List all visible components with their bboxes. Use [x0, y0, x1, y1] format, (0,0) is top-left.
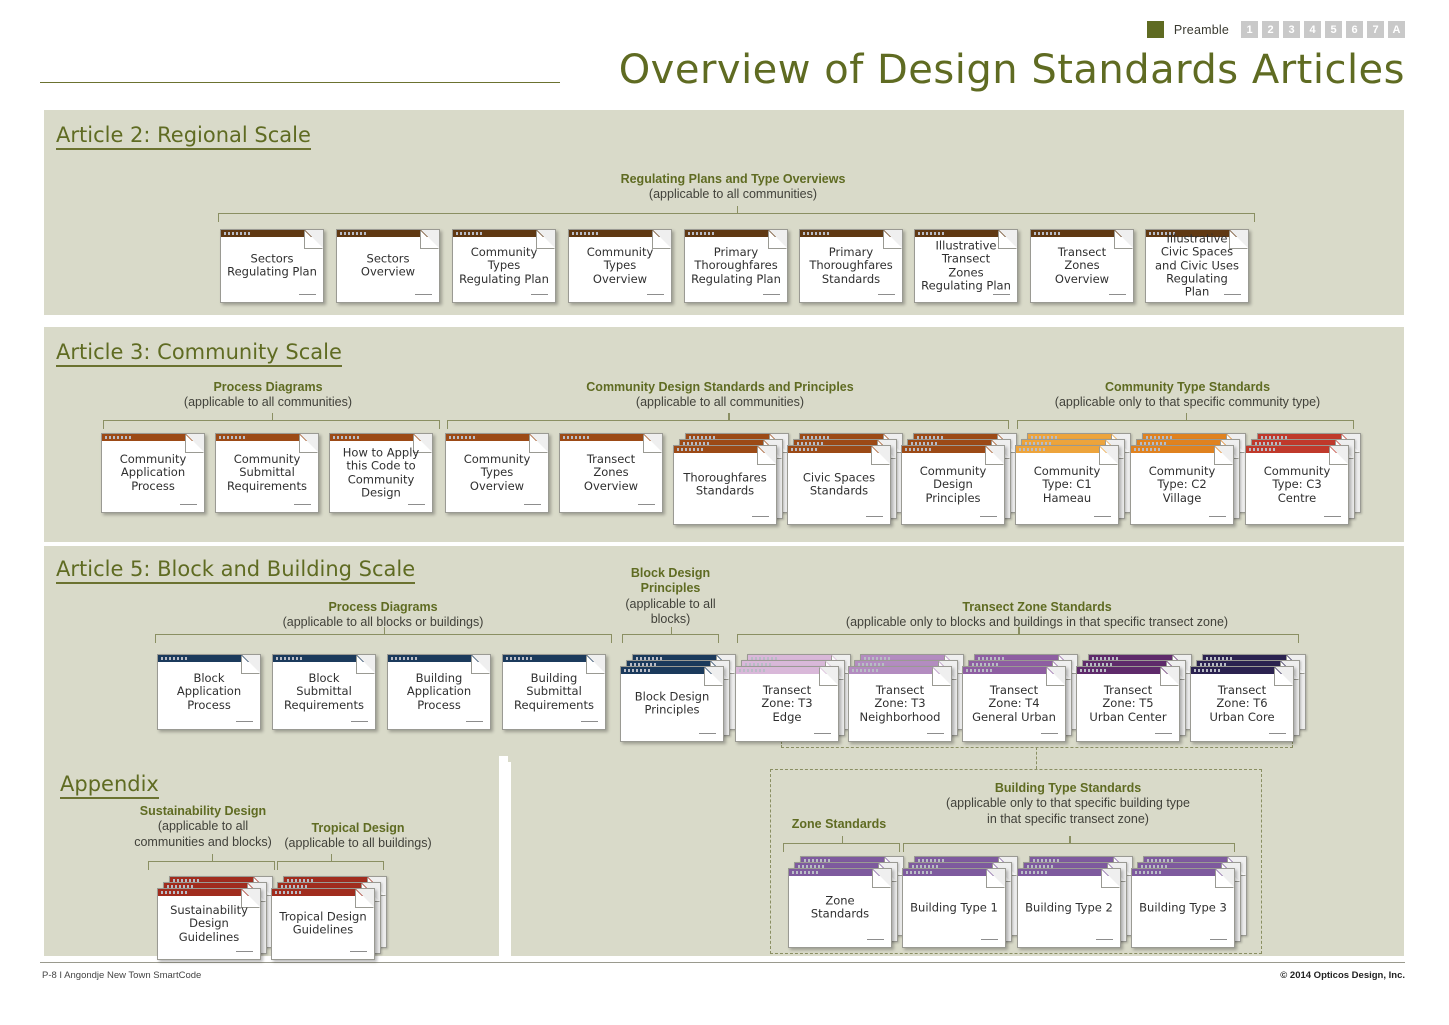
card-building-application-process-label: Building Application Process [391, 672, 487, 712]
group-caption-regulating-plans-note: (applicable to all communities) [593, 187, 873, 202]
card-transect-zone-t5-tick-marks-icon [1080, 669, 1106, 672]
card-building-type-3[interactable]: Building Type 3 [1131, 856, 1247, 948]
card-community-types-overview[interactable]: Community Types Overview [568, 229, 684, 315]
card-community-submittal-requirements-tick-marks-icon [219, 436, 245, 439]
card-zone-standards[interactable]: Zone Standards [788, 856, 904, 948]
group-caption-a3-process-diagrams-heading: Process Diagrams [153, 380, 383, 395]
card-community-type-c1-tick-marks-icon [1019, 448, 1045, 451]
card-building-type-1-bottom-rule [981, 939, 998, 940]
card-building-type-2-sheet: Building Type 2 [1017, 868, 1121, 948]
footer-right: © 2014 Opticos Design, Inc. [1280, 970, 1405, 981]
card-transect-zone-t4[interactable]: Transect Zone: T4 General Urban [962, 654, 1078, 742]
card-community-type-c3-sheet: Community Type: C3 Centre [1245, 445, 1349, 525]
card-thoroughfares-standards-label: Thoroughfares Standards [677, 472, 773, 499]
card-block-application-process[interactable]: Block Application Process [157, 654, 273, 742]
card-tropical-design-guidelines-tick-marks-icon [275, 891, 301, 894]
group-caption-transect-zone-standards-heading: Transect Zone Standards [782, 600, 1292, 615]
bracket-a3-type [1017, 420, 1354, 429]
card-transect-zone-t3-neighborhood-sheet: Transect Zone: T3 Neighborhood [848, 666, 952, 742]
card-sectors-overview-tick-marks-icon [340, 232, 366, 235]
card-building-type-2-label: Building Type 2 [1021, 901, 1117, 914]
card-civic-spaces-standards-tick-marks-icon [791, 448, 817, 451]
card-transect-zone-t3-edge-bottom-rule [814, 733, 831, 734]
card-primary-thoroughfares-standards-tick-marks-icon [803, 232, 829, 235]
card-a3-transect-zones-overview[interactable]: Transect Zones Overview [559, 433, 675, 525]
card-building-submittal-requirements-sheet: Building Submittal Requirements [502, 654, 606, 730]
card-tropical-design-guidelines-label: Tropical Design Guidelines [275, 911, 371, 938]
card-transect-zone-t6[interactable]: Transect Zone: T6 Urban Core [1190, 654, 1306, 742]
card-a3-transect-zones-overview-label: Transect Zones Overview [563, 453, 659, 493]
card-a3-transect-zones-overview-sheet: Transect Zones Overview [559, 433, 663, 513]
card-transect-zones-overview-sheet: Transect Zones Overview [1030, 229, 1134, 303]
dashed-stem-transect [1036, 747, 1037, 769]
card-community-submittal-requirements[interactable]: Community Submittal Requirements [215, 433, 331, 525]
tab-7[interactable]: 7 [1367, 21, 1384, 38]
card-community-types-regulating-plan-sheet: Community Types Regulating Plan [452, 229, 556, 303]
bracket-a3-process-stem [272, 413, 274, 421]
card-sustainability-design-guidelines-tick-marks-icon [161, 891, 187, 894]
card-sectors-regulating-plan-label: Sectors Regulating Plan [224, 253, 320, 280]
card-primary-thoroughfares-standards-bottom-rule [878, 294, 895, 295]
card-transect-zone-t4-bottom-rule [1041, 733, 1058, 734]
card-sectors-regulating-plan-bottom-rule [299, 294, 316, 295]
card-transect-zone-t3-edge[interactable]: Transect Zone: T3 Edge [735, 654, 851, 742]
card-community-submittal-requirements-sheet: Community Submittal Requirements [215, 433, 319, 513]
card-transect-zone-t6-bottom-rule [1269, 733, 1286, 734]
card-transect-zone-t3-edge-tick-marks-icon [739, 669, 765, 672]
card-sectors-overview[interactable]: Sectors Overview [336, 229, 452, 315]
card-community-types-overview-tick-marks-icon [572, 232, 598, 235]
card-sectors-overview-bottom-rule [415, 294, 432, 295]
card-community-type-c1-bottom-rule [1094, 516, 1111, 517]
tab-5[interactable]: 5 [1325, 21, 1342, 38]
group-caption-block-design-principles-heading: Block Design Principles [613, 566, 728, 597]
card-primary-thoroughfares-regulating-plan-sheet: Primary Thoroughfares Regulating Plan [684, 229, 788, 303]
card-a3-transect-zones-overview-tick-marks-icon [563, 436, 589, 439]
card-primary-thoroughfares-regulating-plan-label: Primary Thoroughfares Regulating Plan [688, 246, 784, 286]
page-title: Overview of Design Standards Articles [564, 47, 1405, 93]
card-building-submittal-requirements-bottom-rule [581, 721, 598, 722]
card-block-submittal-requirements-sheet: Block Submittal Requirements [272, 654, 376, 730]
card-sectors-regulating-plan-sheet: Sectors Regulating Plan [220, 229, 324, 303]
card-community-design-principles-sheet: Community Design Principles [901, 445, 1005, 525]
card-building-application-process[interactable]: Building Application Process [387, 654, 503, 742]
group-caption-community-type-standards-note: (applicable only to that specific commun… [1020, 395, 1355, 410]
card-how-to-apply-this-code-bottom-rule [408, 504, 425, 505]
card-thoroughfares-standards[interactable]: Thoroughfares Standards [673, 433, 789, 525]
bracket-a5-process [155, 634, 612, 643]
card-tropical-design-guidelines-bottom-rule [350, 951, 367, 952]
card-transect-zones-overview-tick-marks-icon [1034, 232, 1060, 235]
bracket-tropical [277, 861, 384, 870]
card-transect-zone-t3-neighborhood-tick-marks-icon [852, 669, 878, 672]
tab-1[interactable]: 1 [1241, 21, 1258, 38]
card-building-type-3-label: Building Type 3 [1135, 901, 1231, 914]
group-caption-a3-process-diagrams-note: (applicable to all communities) [153, 395, 383, 410]
card-block-application-process-tick-marks-icon [161, 657, 187, 660]
card-transect-zone-t5[interactable]: Transect Zone: T5 Urban Center [1076, 654, 1192, 742]
card-community-application-process[interactable]: Community Application Process [101, 433, 217, 525]
card-community-type-c3-tick-marks-icon [1249, 448, 1275, 451]
card-block-design-principles-sheet: Block Design Principles [620, 666, 724, 742]
card-building-submittal-requirements-label: Building Submittal Requirements [506, 672, 602, 712]
card-community-design-principles-bottom-rule [980, 516, 997, 517]
card-a3-community-types-overview-bottom-rule [524, 504, 541, 505]
panel-title-article-3: Article 3: Community Scale [56, 340, 342, 367]
group-caption-a5-process-diagrams: Process Diagrams(applicable to all block… [258, 600, 508, 631]
card-building-type-2-tick-marks-icon [1021, 871, 1047, 874]
group-caption-tropical-design-note: (applicable to all buildings) [268, 836, 448, 851]
card-building-type-1-tick-marks-icon [906, 871, 932, 874]
bracket-sustainability-stem [212, 854, 214, 862]
card-building-type-3-bottom-rule [1210, 939, 1227, 940]
card-community-types-overview-label: Community Types Overview [572, 246, 668, 286]
bracket-tropical-stem [331, 854, 333, 862]
card-community-types-overview-sheet: Community Types Overview [568, 229, 672, 303]
panel-title-article-5: Article 5: Block and Building Scale [56, 557, 415, 584]
card-community-design-principles-label: Community Design Principles [905, 465, 1001, 505]
card-community-type-c3-label: Community Type: C3 Centre [1249, 465, 1345, 505]
bracket-a3-regulating [218, 213, 1255, 222]
card-block-design-principles[interactable]: Block Design Principles [620, 654, 736, 742]
card-building-type-3-sheet: Building Type 3 [1131, 868, 1235, 948]
card-sustainability-design-guidelines-sheet: Sustainability Design Guidelines [157, 888, 261, 960]
card-building-application-process-bottom-rule [466, 721, 483, 722]
title-row: Overview of Design Standards Articles [40, 44, 1405, 96]
card-building-type-1-label: Building Type 1 [906, 901, 1002, 914]
card-block-application-process-sheet: Block Application Process [157, 654, 261, 730]
card-transect-zone-t5-bottom-rule [1155, 733, 1172, 734]
card-thoroughfares-standards-bottom-rule [752, 516, 769, 517]
card-thoroughfares-standards-tick-marks-icon [677, 448, 703, 451]
card-sectors-regulating-plan-tick-marks-icon [224, 232, 250, 235]
preamble-swatch-icon [1147, 21, 1164, 38]
card-community-type-c2-sheet: Community Type: C2 Village [1130, 445, 1234, 525]
card-community-application-process-tick-marks-icon [105, 436, 131, 439]
card-transect-zone-t6-sheet: Transect Zone: T6 Urban Core [1190, 666, 1294, 742]
card-building-application-process-tick-marks-icon [391, 657, 417, 660]
card-transect-zones-overview-label: Transect Zones Overview [1034, 246, 1130, 286]
card-a3-community-types-overview[interactable]: Community Types Overview [445, 433, 561, 525]
card-a3-community-types-overview-sheet: Community Types Overview [445, 433, 549, 513]
card-community-types-overview-bottom-rule [647, 294, 664, 295]
article-tab-bar[interactable]: Preamble 1 2 3 4 5 6 7 A [1147, 21, 1405, 38]
card-civic-spaces-standards-label: Civic Spaces Standards [791, 472, 887, 499]
card-transect-zones-overview[interactable]: Transect Zones Overview [1030, 229, 1146, 315]
card-building-type-1-sheet: Building Type 1 [902, 868, 1006, 948]
bracket-a5-block-design-stem [671, 627, 673, 635]
card-transect-zone-t6-label: Transect Zone: T6 Urban Core [1194, 684, 1290, 724]
bracket-a5-transect-stem [1018, 627, 1020, 635]
card-civic-spaces-standards-bottom-rule [866, 516, 883, 517]
tab-appendix[interactable]: A [1388, 21, 1405, 38]
card-community-application-process-bottom-rule [180, 504, 197, 505]
card-how-to-apply-this-code-tick-marks-icon [333, 436, 359, 439]
card-primary-thoroughfares-standards[interactable]: Primary Thoroughfares Standards [799, 229, 915, 315]
card-block-submittal-requirements-label: Block Submittal Requirements [276, 672, 372, 712]
card-illustrative-civic-spaces-regulating-plan-label: Illustrative Civic Spaces and Civic Uses… [1149, 233, 1245, 300]
card-transect-zone-t4-label: Transect Zone: T4 General Urban [966, 684, 1062, 724]
card-illustrative-transect-zones-regulating-plan-label: Illustrative Transect Zones Regulating P… [918, 239, 1014, 292]
card-how-to-apply-this-code[interactable]: How to Apply this Code to Community Desi… [329, 433, 445, 525]
card-community-design-principles[interactable]: Community Design Principles [901, 433, 1017, 525]
card-block-design-principles-tick-marks-icon [624, 669, 650, 672]
card-primary-thoroughfares-standards-sheet: Primary Thoroughfares Standards [799, 229, 903, 303]
card-community-type-c2-label: Community Type: C2 Village [1134, 465, 1230, 505]
group-caption-community-design-standards: Community Design Standards and Principle… [560, 380, 880, 411]
card-sectors-overview-sheet: Sectors Overview [336, 229, 440, 303]
card-community-type-c2[interactable]: Community Type: C2 Village [1130, 433, 1246, 525]
group-caption-sustainability-design-heading: Sustainability Design [103, 804, 303, 819]
card-zone-standards-bottom-rule [867, 939, 884, 940]
card-thoroughfares-standards-sheet: Thoroughfares Standards [673, 445, 777, 525]
card-transect-zone-t5-sheet: Transect Zone: T5 Urban Center [1076, 666, 1180, 742]
card-transect-zone-t4-sheet: Transect Zone: T4 General Urban [962, 666, 1066, 742]
group-caption-regulating-plans-heading: Regulating Plans and Type Overviews [593, 172, 873, 187]
card-community-submittal-requirements-label: Community Submittal Requirements [219, 453, 315, 493]
bracket-a3-design-stem [728, 413, 730, 421]
group-caption-community-type-standards-heading: Community Type Standards [1020, 380, 1355, 395]
card-block-submittal-requirements-bottom-rule [351, 721, 368, 722]
card-transect-zone-t4-tick-marks-icon [966, 669, 992, 672]
card-community-types-regulating-plan[interactable]: Community Types Regulating Plan [452, 229, 568, 315]
card-sustainability-design-guidelines-bottom-rule [236, 951, 253, 952]
card-primary-thoroughfares-standards-label: Primary Thoroughfares Standards [803, 246, 899, 286]
card-community-type-c1-sheet: Community Type: C1 Hameau [1015, 445, 1119, 525]
card-transect-zone-t3-edge-sheet: Transect Zone: T3 Edge [735, 666, 839, 742]
card-building-submittal-requirements-tick-marks-icon [506, 657, 532, 660]
bracket-a5-block-design [622, 634, 719, 643]
group-caption-regulating-plans: Regulating Plans and Type Overviews(appl… [593, 172, 873, 203]
group-caption-community-design-standards-note: (applicable to all communities) [560, 395, 880, 410]
appendix-white-gutter [499, 756, 508, 962]
card-primary-thoroughfares-regulating-plan-tick-marks-icon [688, 232, 714, 235]
card-transect-zone-t3-neighborhood[interactable]: Transect Zone: T3 Neighborhood [848, 654, 964, 742]
card-a3-community-types-overview-label: Community Types Overview [449, 453, 545, 493]
panel-title-appendix: Appendix [60, 772, 159, 799]
card-block-design-principles-bottom-rule [699, 733, 716, 734]
group-caption-block-design-principles-note: (applicable to all blocks) [613, 597, 728, 628]
group-caption-community-type-standards: Community Type Standards(applicable only… [1020, 380, 1355, 411]
card-tropical-design-guidelines[interactable]: Tropical Design Guidelines [271, 876, 387, 960]
card-block-submittal-requirements[interactable]: Block Submittal Requirements [272, 654, 388, 742]
card-community-application-process-sheet: Community Application Process [101, 433, 205, 513]
card-community-type-c3-bottom-rule [1324, 516, 1341, 517]
card-block-submittal-requirements-tick-marks-icon [276, 657, 302, 660]
group-caption-block-design-principles: Block Design Principles(applicable to al… [613, 566, 728, 627]
card-community-type-c2-tick-marks-icon [1134, 448, 1160, 451]
card-primary-thoroughfares-regulating-plan-bottom-rule [763, 294, 780, 295]
group-caption-a5-process-diagrams-heading: Process Diagrams [258, 600, 508, 615]
card-transect-zone-t3-neighborhood-bottom-rule [927, 733, 944, 734]
card-building-application-process-sheet: Building Application Process [387, 654, 491, 730]
card-community-types-regulating-plan-bottom-rule [531, 294, 548, 295]
group-caption-a3-process-diagrams: Process Diagrams(applicable to all commu… [153, 380, 383, 411]
card-illustrative-civic-spaces-regulating-plan[interactable]: Illustrative Civic Spaces and Civic Uses… [1145, 229, 1261, 315]
card-community-type-c2-bottom-rule [1209, 516, 1226, 517]
bracket-a3-regulating-stem [737, 206, 739, 214]
card-primary-thoroughfares-regulating-plan[interactable]: Primary Thoroughfares Regulating Plan [684, 229, 800, 315]
card-community-application-process-label: Community Application Process [105, 453, 201, 493]
card-a3-transect-zones-overview-bottom-rule [638, 504, 655, 505]
card-illustrative-transect-zones-regulating-plan[interactable]: Illustrative Transect Zones Regulating P… [914, 229, 1030, 315]
card-transect-zone-t6-tick-marks-icon [1194, 669, 1220, 672]
card-illustrative-transect-zones-regulating-plan-tick-marks-icon [918, 232, 944, 235]
tab-4[interactable]: 4 [1304, 21, 1321, 38]
card-illustrative-transect-zones-regulating-plan-bottom-rule [993, 294, 1010, 295]
card-building-type-3-tick-marks-icon [1135, 871, 1161, 874]
card-zone-standards-tick-marks-icon [792, 871, 818, 874]
card-illustrative-civic-spaces-regulating-plan-sheet: Illustrative Civic Spaces and Civic Uses… [1145, 229, 1249, 303]
card-sectors-overview-label: Sectors Overview [340, 253, 436, 280]
card-community-types-regulating-plan-label: Community Types Regulating Plan [456, 246, 552, 286]
card-community-type-c3[interactable]: Community Type: C3 Centre [1245, 433, 1361, 525]
card-transect-zone-t5-label: Transect Zone: T5 Urban Center [1080, 684, 1176, 724]
group-caption-tropical-design: Tropical Design(applicable to all buildi… [268, 821, 448, 852]
bracket-a3-type-stem [1186, 413, 1188, 421]
footer-left: P-8 I Angondje New Town SmartCode [42, 970, 201, 981]
tab-2[interactable]: 2 [1262, 21, 1279, 38]
bracket-sustainability [148, 861, 275, 870]
bracket-a3-design [447, 420, 1009, 429]
card-block-application-process-bottom-rule [236, 721, 253, 722]
preamble-label: Preamble [1174, 23, 1229, 37]
tab-3[interactable]: 3 [1283, 21, 1300, 38]
card-sustainability-design-guidelines[interactable]: Sustainability Design Guidelines [157, 876, 273, 960]
bracket-a5-transect [737, 634, 1299, 643]
footer-rule [40, 962, 1405, 963]
panel-title-article-2: Article 2: Regional Scale [56, 123, 311, 150]
card-illustrative-transect-zones-regulating-plan-sheet: Illustrative Transect Zones Regulating P… [914, 229, 1018, 303]
bracket-a3-process [103, 420, 440, 429]
card-transect-zones-overview-bottom-rule [1109, 294, 1126, 295]
card-how-to-apply-this-code-sheet: How to Apply this Code to Community Desi… [329, 433, 433, 513]
card-community-type-c1[interactable]: Community Type: C1 Hameau [1015, 433, 1131, 525]
card-block-design-principles-label: Block Design Principles [624, 691, 720, 718]
bracket-a5-process-stem [384, 627, 386, 635]
group-caption-transect-zone-standards-note: (applicable only to blocks and buildings… [782, 615, 1292, 630]
card-how-to-apply-this-code-label: How to Apply this Code to Community Desi… [333, 446, 429, 499]
card-building-type-1[interactable]: Building Type 1 [902, 856, 1018, 948]
tab-6[interactable]: 6 [1346, 21, 1363, 38]
card-a3-community-types-overview-tick-marks-icon [449, 436, 475, 439]
group-caption-tropical-design-heading: Tropical Design [268, 821, 448, 836]
card-civic-spaces-standards[interactable]: Civic Spaces Standards [787, 433, 903, 525]
card-zone-standards-label: Zone Standards [792, 895, 888, 922]
group-caption-transect-zone-standards: Transect Zone Standards(applicable only … [782, 600, 1292, 631]
group-caption-community-design-standards-heading: Community Design Standards and Principle… [560, 380, 880, 395]
title-rule [40, 82, 560, 83]
card-transect-zone-t3-neighborhood-label: Transect Zone: T3 Neighborhood [852, 684, 948, 724]
card-transect-zone-t3-edge-label: Transect Zone: T3 Edge [739, 684, 835, 724]
card-building-type-2-bottom-rule [1096, 939, 1113, 940]
card-zone-standards-sheet: Zone Standards [788, 868, 892, 948]
card-sectors-regulating-plan[interactable]: Sectors Regulating Plan [220, 229, 336, 315]
card-civic-spaces-standards-sheet: Civic Spaces Standards [787, 445, 891, 525]
card-building-type-2[interactable]: Building Type 2 [1017, 856, 1133, 948]
card-community-types-regulating-plan-tick-marks-icon [456, 232, 482, 235]
card-community-design-principles-tick-marks-icon [905, 448, 931, 451]
card-community-submittal-requirements-bottom-rule [294, 504, 311, 505]
card-community-type-c1-label: Community Type: C1 Hameau [1019, 465, 1115, 505]
card-sustainability-design-guidelines-label: Sustainability Design Guidelines [161, 904, 257, 944]
card-building-submittal-requirements[interactable]: Building Submittal Requirements [502, 654, 618, 742]
card-block-application-process-label: Block Application Process [161, 672, 257, 712]
card-tropical-design-guidelines-sheet: Tropical Design Guidelines [271, 888, 375, 960]
